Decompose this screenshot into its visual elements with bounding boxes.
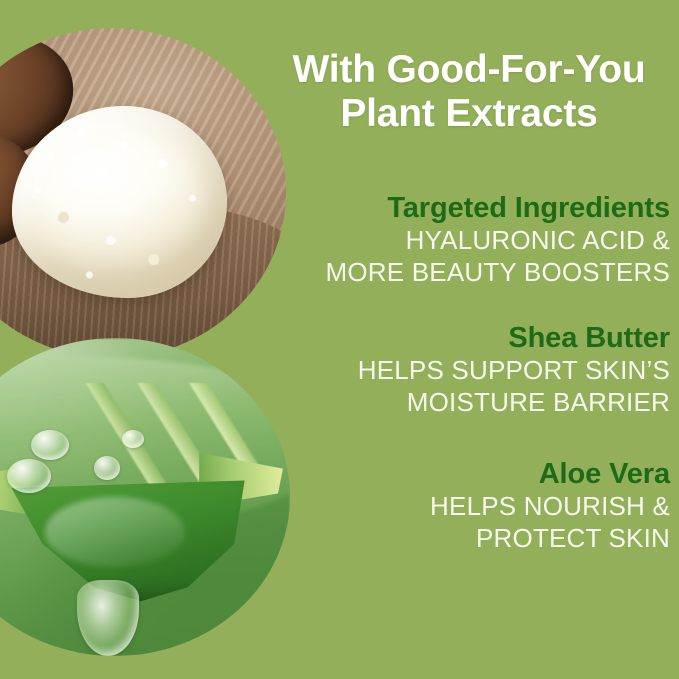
ingredient-description-line-2: PROTECT SKIN [278, 523, 670, 554]
aloe-leaf-highlight [45, 497, 185, 567]
water-droplet-icon [94, 456, 120, 480]
ingredient-description-line-1: HELPS SUPPORT SKIN’S [278, 355, 670, 386]
ingredient-title: Aloe Vera [278, 458, 670, 491]
ingredient-description-line-2: MOISTURE BARRIER [278, 387, 670, 418]
poster-headline: With Good-For-You Plant Extracts [268, 48, 670, 137]
aloe-vera-photo [0, 338, 290, 656]
ingredient-block-aloe-vera: Aloe Vera HELPS NOURISH & PROTECT SKIN [278, 458, 670, 554]
ingredient-block-shea-butter: Shea Butter HELPS SUPPORT SKIN’S MOISTUR… [278, 322, 670, 418]
headline-line-1: With Good-For-You [268, 48, 670, 92]
ingredient-block-targeted-ingredients: Targeted Ingredients HYALURONIC ACID & M… [278, 192, 670, 288]
ingredient-title: Shea Butter [278, 322, 670, 355]
ingredient-description-line-1: HYALURONIC ACID & [278, 225, 670, 256]
shea-butter-photo [0, 28, 286, 358]
ingredient-title: Targeted Ingredients [278, 192, 670, 225]
product-benefits-poster: With Good-For-You Plant Extracts Targete… [0, 0, 679, 679]
headline-line-2: Plant Extracts [268, 92, 670, 136]
water-droplet-icon [7, 459, 51, 493]
ingredient-description-line-1: HELPS NOURISH & [278, 491, 670, 522]
ingredient-description-line-2: MORE BEAUTY BOOSTERS [278, 257, 670, 288]
